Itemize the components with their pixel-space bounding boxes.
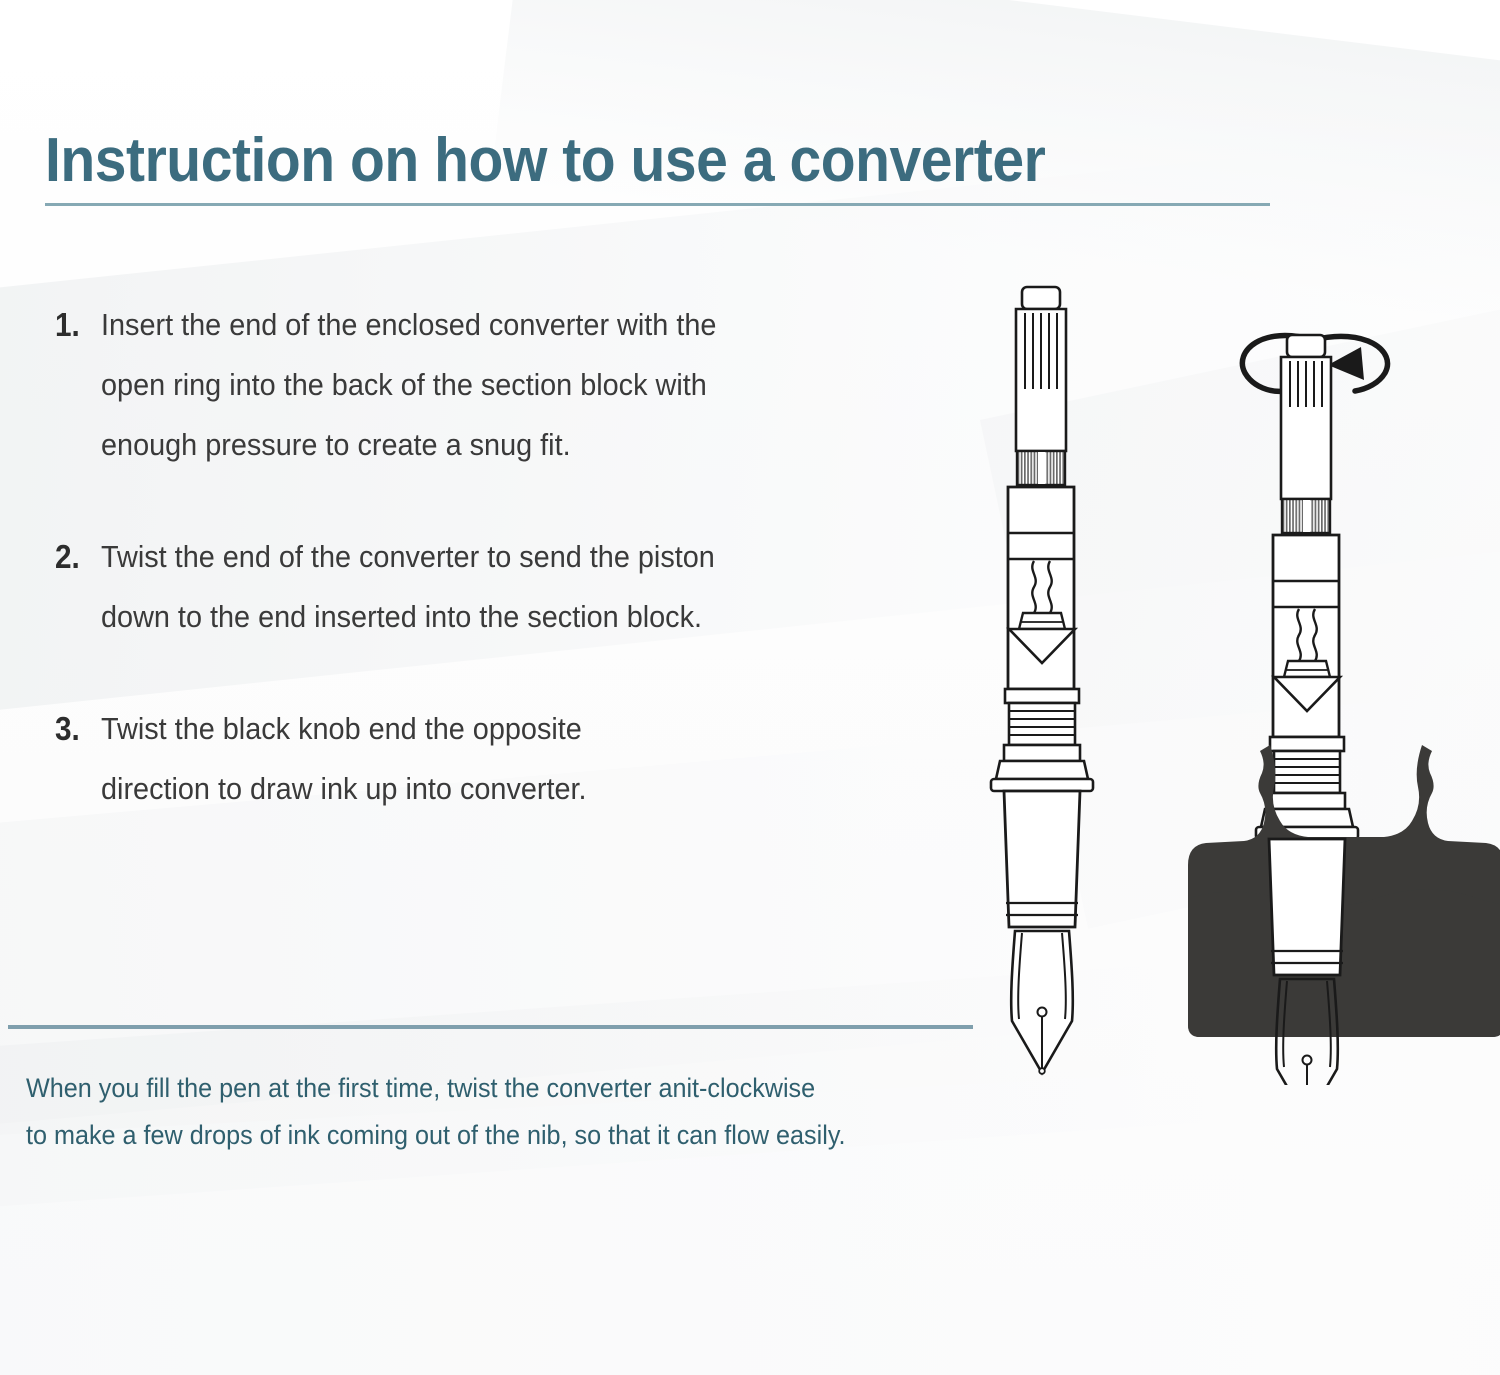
arrow-head — [1328, 347, 1364, 380]
piston-head — [1019, 613, 1065, 629]
instruction-page: Instruction on how to use a converter 1.… — [0, 0, 1500, 1375]
step-line: open ring into the back of the section b… — [101, 355, 923, 415]
threaded-ring — [1009, 703, 1075, 745]
step-line: direction to draw ink up into converter. — [101, 759, 923, 819]
step-number: 3. — [55, 699, 96, 759]
step-line: enough pressure to create a snug fit. — [101, 415, 923, 475]
step-line: Insert the end of the enclosed converter… — [101, 295, 923, 355]
step-line: down to the end inserted into the sectio… — [101, 587, 923, 647]
knurled-band-highlight — [1038, 452, 1045, 484]
nib-breather-hole — [1303, 1056, 1312, 1065]
footer-note: When you fill the pen at the first time,… — [26, 1065, 976, 1159]
step-line: Twist the end of the converter to send t… — [101, 527, 923, 587]
step-text: Twist the end of the converter to send t… — [101, 527, 923, 647]
knob-cap — [1022, 287, 1060, 309]
instruction-steps-list: 1. Insert the end of the enclosed conver… — [55, 295, 985, 871]
nib-breather-hole — [1038, 1008, 1047, 1017]
step-number: 1. — [55, 295, 96, 355]
footer-note-line: to make a few drops of ink coming out of… — [26, 1112, 976, 1159]
page-title: Instruction on how to use a converter — [45, 128, 1177, 193]
section-block — [1004, 791, 1080, 927]
step-ring-2 — [996, 761, 1088, 779]
pen-converter-illustration — [960, 255, 1500, 1085]
title-block: Instruction on how to use a converter — [45, 128, 1275, 206]
step-ring-1 — [1269, 793, 1345, 809]
knurled-band-highlight — [1303, 500, 1310, 532]
step-line: Twist the black knob end the opposite — [101, 699, 923, 759]
threaded-ring — [1274, 751, 1340, 793]
section-block — [1269, 839, 1345, 975]
thread-collar — [1270, 737, 1344, 751]
knob-cap — [1287, 335, 1325, 357]
step-number: 2. — [55, 527, 96, 587]
right-pen-front — [1269, 839, 1345, 1085]
step-ring-1 — [1004, 745, 1080, 761]
step-text: Twist the black knob end the opposite di… — [101, 699, 923, 819]
title-underline — [45, 203, 1270, 206]
list-item: 3. Twist the black knob end the opposite… — [55, 699, 985, 819]
list-item: 2. Twist the end of the converter to sen… — [55, 527, 985, 647]
left-pen — [991, 287, 1093, 1074]
footer-note-line: When you fill the pen at the first time,… — [26, 1065, 976, 1112]
step-text: Insert the end of the enclosed converter… — [101, 295, 923, 475]
list-item: 1. Insert the end of the enclosed conver… — [55, 295, 985, 475]
piston-head — [1284, 661, 1330, 677]
thread-collar — [1005, 689, 1079, 703]
footer-divider — [8, 1025, 973, 1029]
nib-tip-dot — [1039, 1068, 1045, 1074]
section-flange — [991, 779, 1093, 791]
